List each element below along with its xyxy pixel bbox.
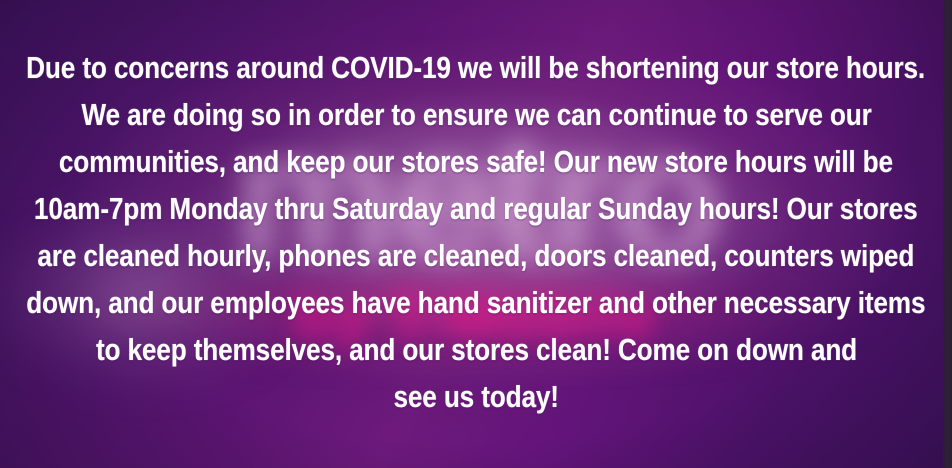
message-line: communities, and keep our stores safe! O…	[59, 139, 893, 186]
message-line: down, and our employees have hand saniti…	[26, 280, 925, 327]
message-line: We are doing so in order to ensure we ca…	[81, 92, 871, 139]
message-line: are cleaned hourly, phones are cleaned, …	[38, 233, 915, 280]
announcement-message: Due to concerns around COVID-19 we will …	[0, 0, 952, 468]
message-line: 10am-7pm Monday thru Saturday and regula…	[34, 186, 918, 233]
message-line: see us today!	[393, 374, 558, 421]
message-line: to keep themselves, and our stores clean…	[95, 327, 856, 374]
message-line: Due to concerns around COVID-19 we will …	[27, 45, 926, 92]
announcement-banner: metro by T-Mobile Due to concerns around…	[0, 0, 952, 468]
